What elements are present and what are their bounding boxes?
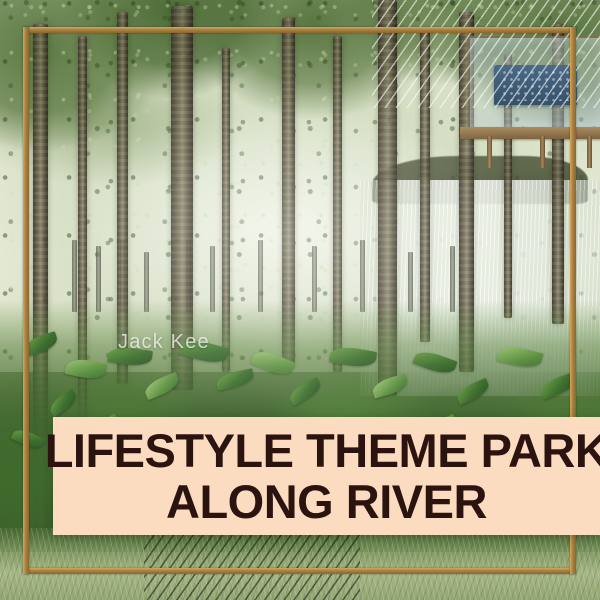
- pavilion-deck: [460, 127, 600, 139]
- title-banner: LIFESTYLE THEME PARK ALONG RIVER: [53, 417, 600, 535]
- tree-trunk: [420, 30, 430, 342]
- elevated-glass-pavilion: [468, 36, 600, 168]
- title-line-2: ALONG RIVER: [166, 478, 487, 525]
- title-line-1: LIFESTYLE THEME PARK: [45, 427, 600, 474]
- poster-canvas: Jack Kee LIFESTYLE THEME PARK ALONG RIVE…: [0, 0, 600, 600]
- pavilion-furniture: [494, 65, 577, 105]
- pavilion-stilt: [487, 136, 492, 168]
- pavilion-stilt: [587, 136, 592, 168]
- pavilion-stilt: [540, 136, 545, 168]
- pavilion-glass-wall: [468, 36, 600, 131]
- foreground-ground: [0, 528, 600, 600]
- watermark-text: Jack Kee: [118, 331, 210, 354]
